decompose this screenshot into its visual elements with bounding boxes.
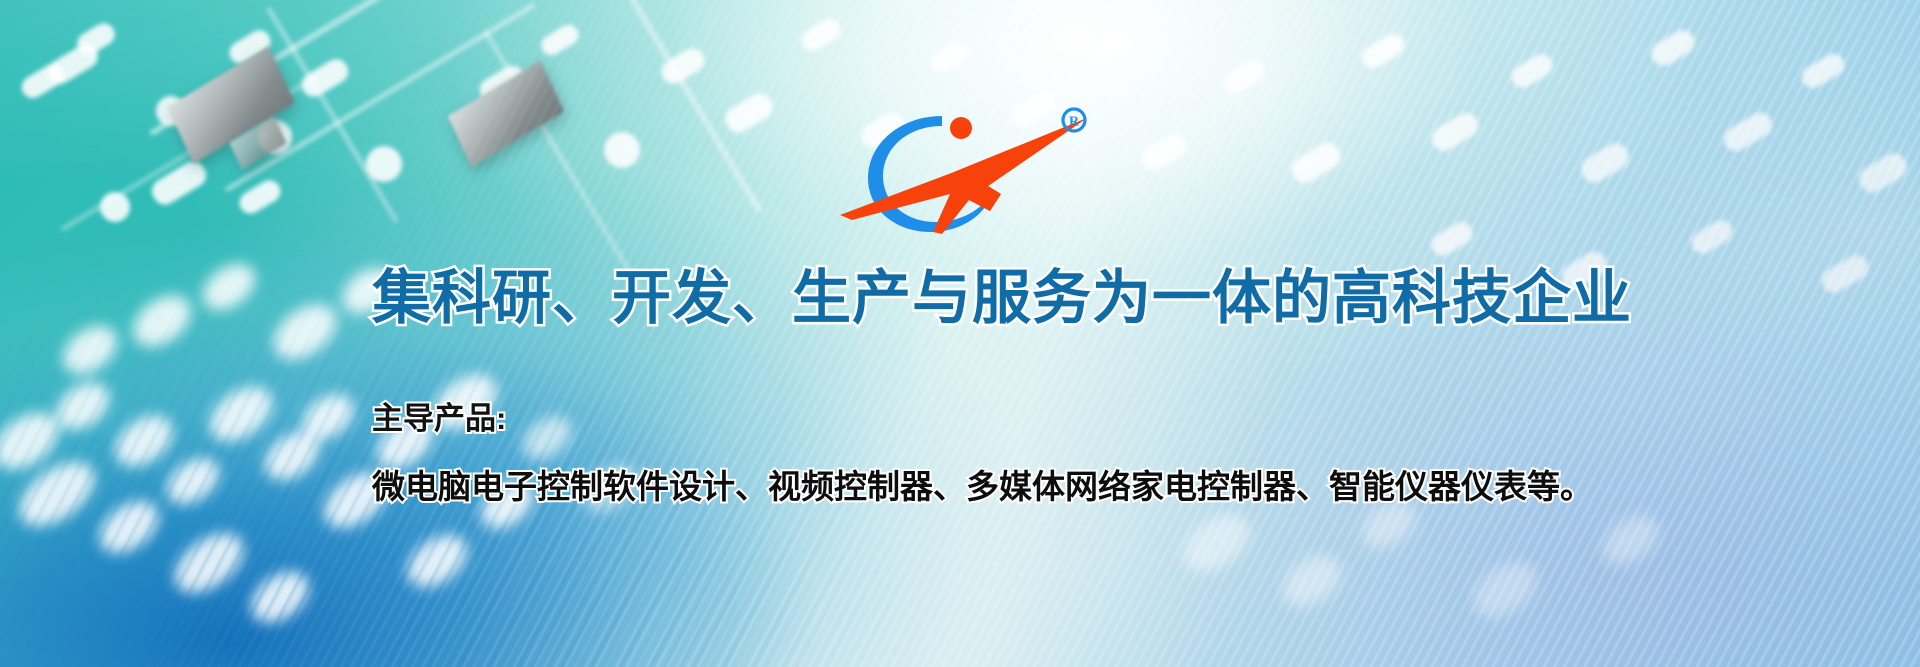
background-pcb-detail [0,0,1920,667]
background-sheen [0,0,1920,667]
products-list: 微电脑电子控制软件设计、视频控制器、多媒体网络家电控制器、智能仪器仪表等。 [372,470,1593,503]
background-smd-components [0,0,1920,667]
registered-trademark-icon: R [1063,109,1085,131]
products-label: 主导产品: [372,403,506,434]
background-pcb-base [0,0,1920,667]
company-logo: R [838,108,1088,234]
logo-arrow-body-icon [954,118,1087,211]
logo-dot-icon [950,117,972,139]
hero-banner: R 集科研、开发、生产与服务为一体的高科技企业 主导产品: 微电脑电子控制软件设… [0,0,1920,667]
background-bokeh-blobs [0,0,1920,667]
svg-text:R: R [1069,115,1080,130]
page-title: 集科研、开发、生产与服务为一体的高科技企业 [372,269,1632,328]
background-blue-glow [0,0,1920,667]
background-lavender-glow [0,0,1920,667]
background-motion-streaks-blue [0,0,1920,667]
background-motion-streaks [0,0,1920,667]
